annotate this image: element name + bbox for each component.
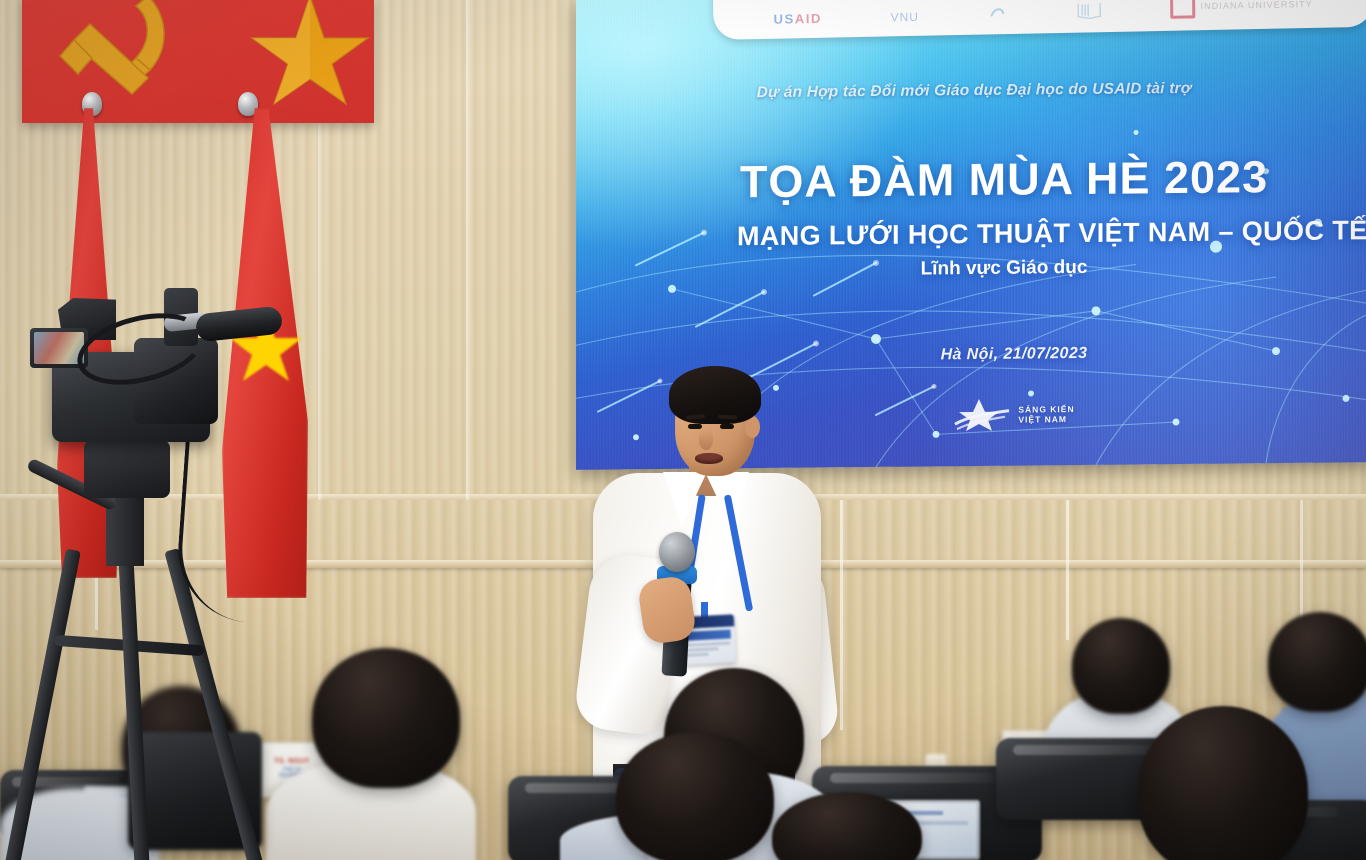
speaker-nose xyxy=(699,430,713,450)
audience-head-right-edge xyxy=(1268,612,1366,712)
tripod-head xyxy=(84,440,170,498)
iu-trident-icon xyxy=(1170,0,1195,19)
logo-line-1: SÁNG KIẾN xyxy=(1018,404,1074,415)
shotgun-microphone xyxy=(195,306,283,343)
indiana-university-logo: INDIANA UNIVERSITY xyxy=(1170,0,1313,19)
usaid-logo: USAID xyxy=(773,11,822,27)
conference-photo-scene: USAID VNU xyxy=(0,0,1366,860)
party-backdrop-board xyxy=(22,0,374,123)
audience-head-center-lower xyxy=(616,732,774,860)
speaker-mouth xyxy=(695,453,723,464)
book-logo xyxy=(1076,0,1102,21)
hammer-and-sickle-emblem xyxy=(52,0,192,105)
audience-head-far-right xyxy=(1072,618,1170,714)
star-swoosh-icon xyxy=(953,398,1011,433)
video-camera-rig xyxy=(14,300,284,860)
wall-seam-mid xyxy=(466,0,470,500)
gold-star-emblem xyxy=(250,0,370,106)
tripod-leg-1 xyxy=(3,549,81,860)
speaker-eye-left xyxy=(688,424,702,429)
audience-head-left-center xyxy=(312,648,460,788)
microphone-head xyxy=(659,532,695,572)
tripod-leg-2 xyxy=(118,550,150,860)
logo-text-block: SÁNG KIẾN VIỆT NAM xyxy=(1018,404,1074,425)
logo-line-2: VIỆT NAM xyxy=(1018,414,1067,424)
speaker-eye-right xyxy=(720,424,734,429)
speaker-hair xyxy=(669,366,761,424)
wall-line-d xyxy=(1066,500,1069,640)
partner-logo xyxy=(987,2,1007,22)
screen-main-title: TỌA ĐÀM MÙA HÈ 2023 xyxy=(576,150,1366,210)
vnu-logo: VNU xyxy=(890,10,918,25)
wall-line-c xyxy=(840,500,843,730)
